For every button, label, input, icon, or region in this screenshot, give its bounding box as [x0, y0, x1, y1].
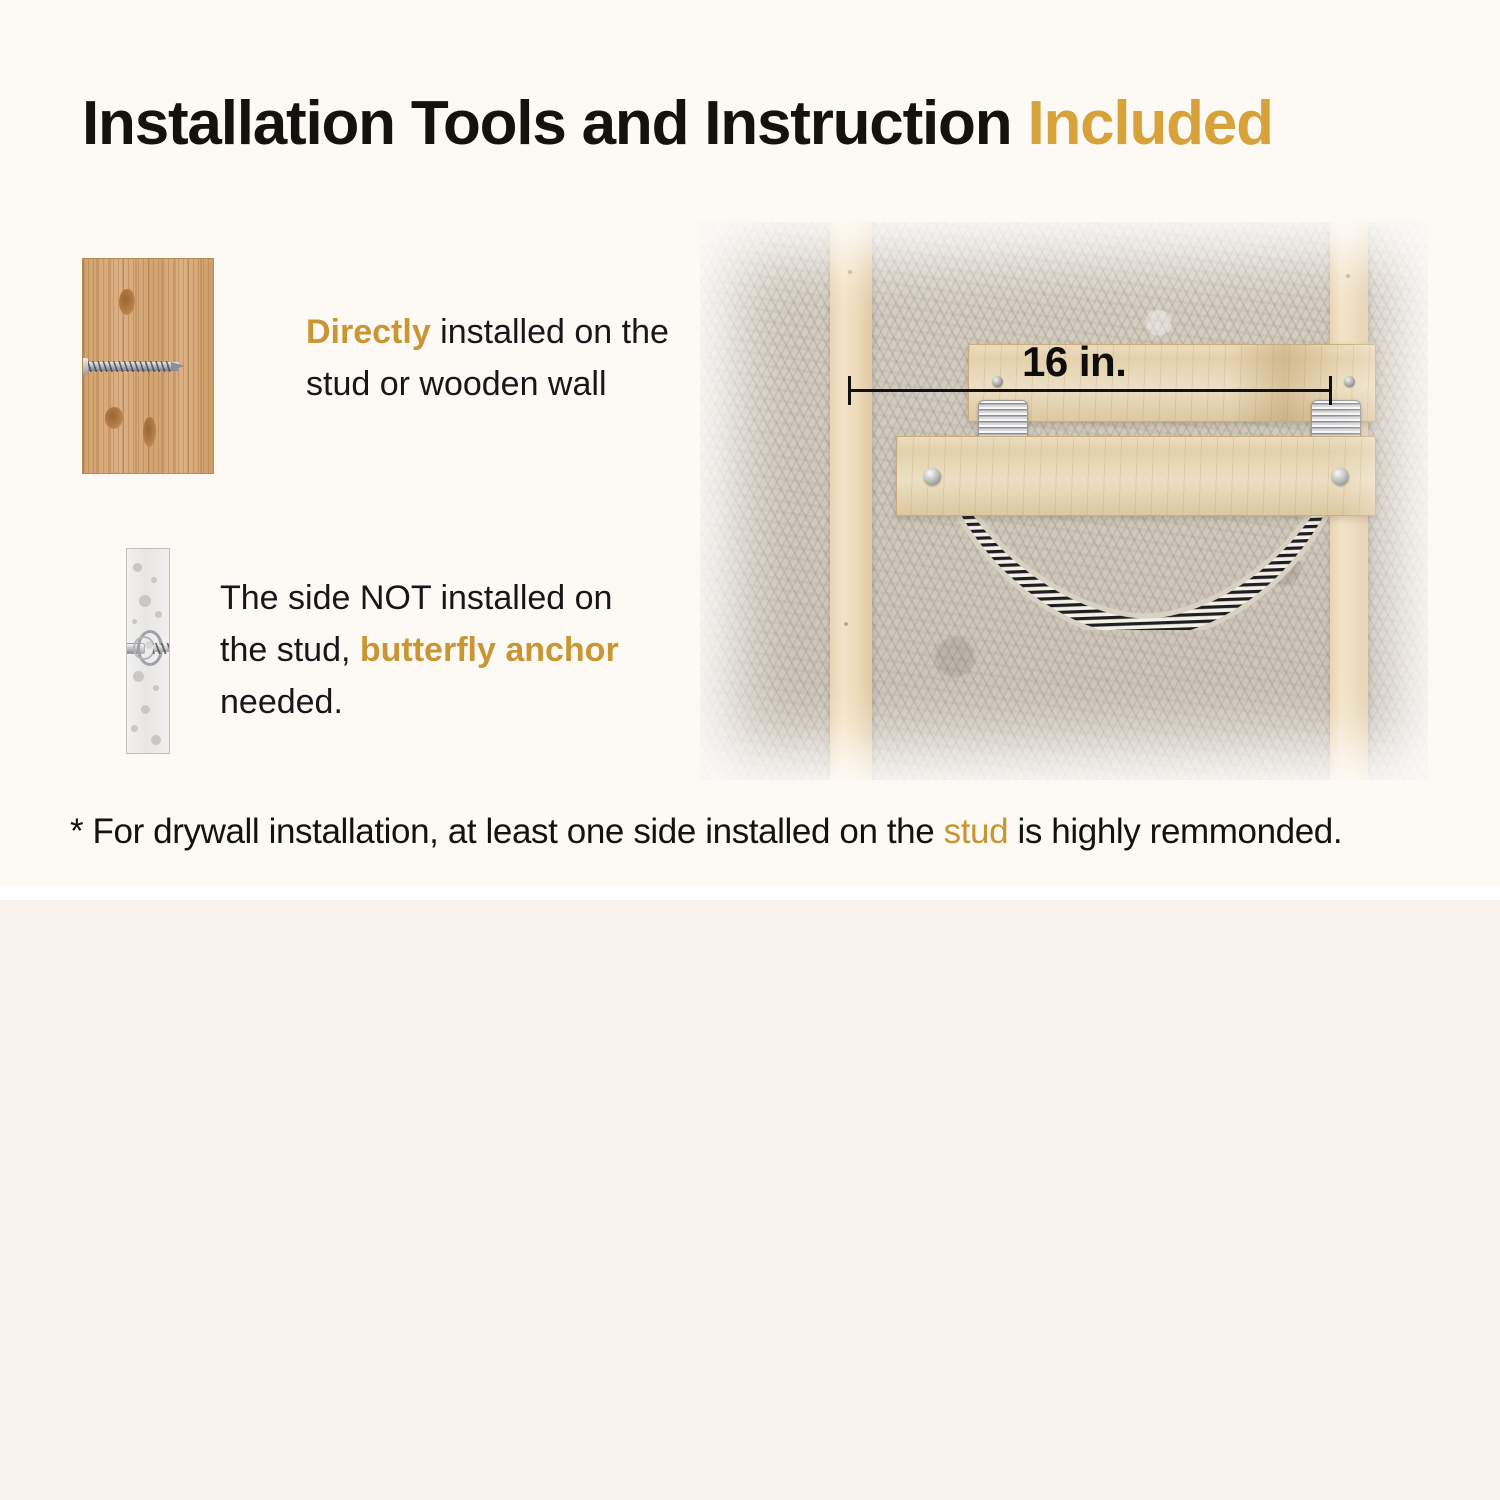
- section-divider: [0, 886, 1500, 900]
- wood-panel-with-screw-icon: [82, 258, 214, 474]
- page-title-main: Installation Tools and Instruction: [82, 89, 1011, 158]
- bottom-section: Inflation anchors and screws needed Bric…: [0, 900, 1500, 1500]
- infographic-page: Installation Tools and Instruction Inclu…: [0, 0, 1500, 1500]
- footnote-after: is highly remmonded.: [1008, 812, 1342, 851]
- stud-wall-installation-photo: [700, 222, 1428, 780]
- wood-stud-left: [830, 222, 872, 780]
- bullet-part-c: needed.: [220, 683, 343, 721]
- bullet-accent-butterfly: butterfly anchor: [360, 631, 619, 669]
- footnote-drywall-note: * For drywall installation, at least one…: [70, 812, 1342, 852]
- page-title: Installation Tools and Instruction Inclu…: [82, 88, 1273, 159]
- footnote-accent-stud: stud: [944, 812, 1009, 851]
- footnote-before: * For drywall installation, at least one…: [70, 812, 944, 851]
- page-title-accent: Included: [1027, 89, 1272, 158]
- bullet-text-direct-install: Directly installed on the stud or wooden…: [306, 306, 726, 410]
- bullet-accent-directly: Directly: [306, 313, 431, 351]
- butterfly-anchor-in-drywall-icon: [126, 548, 170, 754]
- screw-icon: [82, 359, 189, 374]
- hammock-front-board: [896, 436, 1376, 516]
- butterfly-anchor-glyph: [126, 627, 170, 669]
- bullet-row-direct-install: Directly installed on the stud or wooden…: [82, 258, 726, 474]
- bullet-row-butterfly-anchor: The side NOT installed on the stud, butt…: [126, 548, 640, 754]
- top-section: Installation Tools and Instruction Inclu…: [0, 0, 1500, 886]
- bullet-text-butterfly-anchor: The side NOT installed on the stud, butt…: [220, 572, 640, 728]
- dimension-label: 16 in.: [1022, 338, 1126, 386]
